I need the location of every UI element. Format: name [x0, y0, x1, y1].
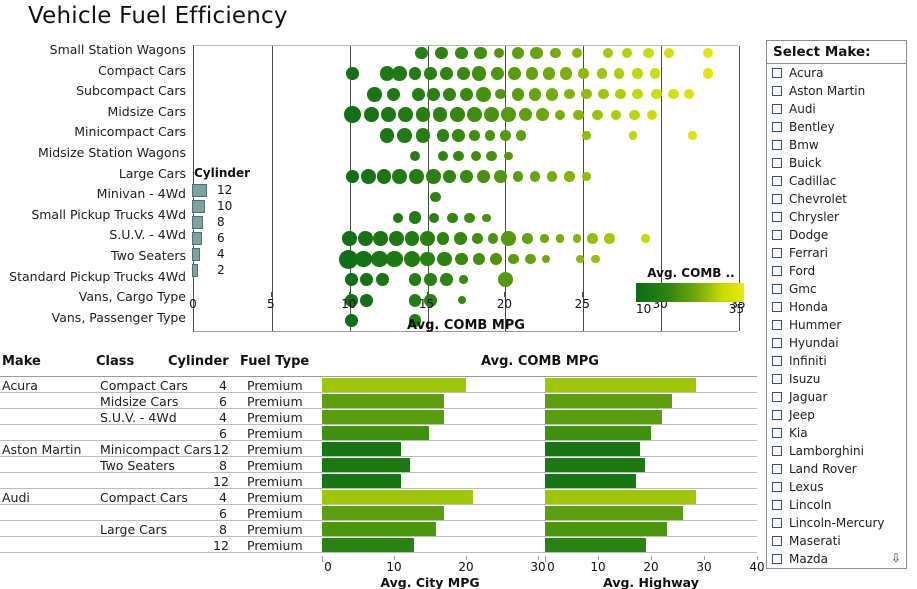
city-mpg-tick — [322, 556, 323, 560]
highway-mpg-bar[interactable] — [545, 426, 651, 440]
cylinder-swatch-wrap — [192, 264, 214, 277]
make-item-jaguar[interactable]: Jaguar — [767, 388, 906, 406]
bubble-point[interactable] — [508, 67, 521, 80]
bubble-point[interactable] — [522, 233, 533, 244]
highway-mpg-bar-cell — [545, 538, 757, 552]
bubble-point[interactable] — [564, 89, 575, 100]
th-fuel: Fuel Type — [240, 354, 309, 369]
city-mpg-bar[interactable] — [322, 474, 401, 488]
bubble-point[interactable] — [443, 88, 456, 101]
bubble-point[interactable] — [429, 213, 440, 224]
cell-cyl: 12 — [213, 442, 227, 457]
bubble-point[interactable] — [398, 107, 413, 122]
make-item-cadillac[interactable]: Cadillac — [767, 172, 906, 190]
bubble-point[interactable] — [597, 68, 608, 79]
checkbox-icon[interactable] — [772, 266, 782, 276]
make-item-ferrari[interactable]: Ferrari — [767, 244, 906, 262]
bubble-point[interactable] — [530, 47, 543, 60]
bubble-point[interactable] — [443, 170, 456, 183]
checkbox-icon[interactable] — [772, 464, 782, 474]
make-item-acura[interactable]: Acura — [767, 64, 906, 82]
table-row[interactable]: Midsize Cars6Premium — [0, 393, 757, 409]
bubble-point[interactable] — [464, 213, 475, 224]
make-label: Aston Martin — [789, 84, 865, 98]
bubble-point[interactable] — [482, 214, 491, 223]
checkbox-icon[interactable] — [772, 356, 782, 366]
bubble-point[interactable] — [346, 67, 359, 80]
city-mpg-bar-cell — [322, 394, 538, 408]
bubble-point[interactable] — [393, 213, 404, 224]
bubble-point[interactable] — [504, 152, 513, 161]
checkbox-icon[interactable] — [772, 158, 782, 168]
bubble-point[interactable] — [684, 89, 695, 100]
bubble-point[interactable] — [525, 254, 536, 265]
bubble-point[interactable] — [603, 48, 614, 59]
highway-mpg-axis-title: Avg. Highway — [545, 575, 757, 589]
cell-fuel: Premium — [247, 538, 303, 553]
city-mpg-bar[interactable] — [322, 426, 429, 440]
bubble-point[interactable] — [560, 67, 573, 80]
bubble-point[interactable] — [392, 169, 407, 184]
bubble-point[interactable] — [604, 233, 615, 244]
bubble-point[interactable] — [513, 171, 524, 182]
cylinder-size-swatch — [192, 216, 203, 229]
bubble-point[interactable] — [501, 107, 516, 122]
checkbox-icon[interactable] — [772, 122, 782, 132]
cylinder-legend-label: 4 — [217, 247, 225, 261]
bubble-point[interactable] — [405, 231, 420, 246]
city-mpg-axis-title: Avg. City MPG — [322, 575, 538, 589]
make-item-audi[interactable]: Audi — [767, 100, 906, 118]
bubble-point[interactable] — [387, 88, 400, 101]
make-label: Acura — [789, 66, 824, 80]
bubble-point[interactable] — [477, 170, 490, 183]
make-label: Hummer — [789, 318, 841, 332]
make-item-lincoln-mercury[interactable]: Lincoln-Mercury — [767, 514, 906, 532]
bubble-point[interactable] — [490, 253, 503, 266]
bubble-point[interactable] — [472, 233, 483, 244]
bubble-point[interactable] — [437, 232, 450, 245]
bubble-point[interactable] — [484, 107, 499, 122]
bubble-point[interactable] — [647, 110, 658, 121]
bubble-point[interactable] — [440, 67, 453, 80]
color-gradient-bar — [636, 283, 744, 302]
checkbox-icon[interactable] — [772, 482, 782, 492]
highway-mpg-bar-cell — [545, 442, 757, 456]
checkbox-icon[interactable] — [772, 86, 782, 96]
bubble-point[interactable] — [438, 151, 449, 162]
make-item-maserati[interactable]: Maserati — [767, 532, 906, 550]
bubble-point[interactable] — [581, 89, 592, 100]
highway-mpg-bar-cell — [545, 474, 757, 488]
bubble-point[interactable] — [611, 110, 622, 121]
category-label-compact-cars: Compact Cars — [98, 64, 186, 78]
cell-cyl: 6 — [213, 394, 227, 409]
make-item-lamborghini[interactable]: Lamborghini — [767, 442, 906, 460]
make-item-buick[interactable]: Buick — [767, 154, 906, 172]
table-row[interactable]: Aston MartinMinicompact Cars12Premium — [0, 441, 757, 457]
cell-class: Compact Cars — [100, 378, 188, 393]
bar-axes: 0102030Avg. City MPG010203040Avg. Highwa… — [0, 556, 757, 589]
bubble-point[interactable] — [516, 130, 527, 141]
table-row[interactable]: 6Premium — [0, 425, 757, 441]
table-row[interactable]: AudiCompact Cars4Premium — [0, 489, 757, 505]
bubble-point[interactable] — [622, 48, 633, 59]
bubble-point[interactable] — [346, 170, 359, 183]
checkbox-icon[interactable] — [772, 248, 782, 258]
make-item-chrysler[interactable]: Chrysler — [767, 208, 906, 226]
bubble-point[interactable] — [632, 68, 643, 79]
city-mpg-bar[interactable] — [322, 394, 444, 408]
bubble-point[interactable] — [453, 151, 464, 162]
checkbox-icon[interactable] — [772, 104, 782, 114]
bubble-point[interactable] — [345, 273, 358, 286]
bubble-point[interactable] — [380, 128, 395, 143]
highway-mpg-bar[interactable] — [545, 506, 683, 520]
city-mpg-bar[interactable] — [322, 410, 444, 424]
city-mpg-bar[interactable] — [322, 378, 466, 392]
cylinder-legend-item-8[interactable]: 8 — [192, 214, 262, 230]
bubble-point[interactable] — [447, 213, 458, 224]
highway-mpg-tick-label-40: 40 — [749, 560, 764, 574]
bubble-point[interactable] — [412, 88, 425, 101]
checkbox-icon[interactable] — [772, 392, 782, 402]
table-row[interactable]: Large Cars8Premium — [0, 521, 757, 537]
checkbox-icon[interactable] — [772, 428, 782, 438]
cylinder-legend-item-2[interactable]: 2 — [192, 262, 262, 278]
bubble-point[interactable] — [498, 272, 513, 287]
bubble-point[interactable] — [367, 87, 382, 102]
bubble-point[interactable] — [376, 273, 389, 286]
checkbox-icon[interactable] — [772, 374, 782, 384]
city-mpg-tick-label-20: 20 — [458, 560, 473, 574]
make-item-aston-martin[interactable]: Aston Martin — [767, 82, 906, 100]
bubble-point[interactable] — [582, 131, 591, 140]
checkbox-icon[interactable] — [772, 338, 782, 348]
checkbox-icon[interactable] — [772, 212, 782, 222]
cylinder-legend-item-10[interactable]: 10 — [192, 198, 262, 214]
bubble-point[interactable] — [555, 110, 566, 121]
bubble-point[interactable] — [437, 129, 450, 142]
bubble-point[interactable] — [547, 171, 558, 182]
make-item-bentley[interactable]: Bentley — [767, 118, 906, 136]
bubble-point[interactable] — [494, 170, 507, 183]
bubble-point[interactable] — [361, 169, 376, 184]
cylinder-size-swatch — [192, 264, 198, 277]
cylinder-legend-label: 12 — [217, 183, 232, 197]
bubble-point[interactable] — [355, 251, 372, 268]
highway-mpg-bar[interactable] — [545, 394, 672, 408]
highway-mpg-bar[interactable] — [545, 410, 662, 424]
bubble-point[interactable] — [358, 231, 373, 246]
select-make-panel[interactable]: Select Make: AcuraAston MartinAudiBentle… — [766, 40, 907, 569]
make-label: Gmc — [789, 282, 817, 296]
bubble-point[interactable] — [587, 233, 598, 244]
make-item-jeep[interactable]: Jeep — [767, 406, 906, 424]
bubble-point[interactable] — [641, 234, 650, 243]
make-item-lincoln[interactable]: Lincoln — [767, 496, 906, 514]
checkbox-icon[interactable] — [772, 284, 782, 294]
highway-mpg-bar-cell — [545, 490, 757, 504]
bubble-point[interactable] — [426, 169, 441, 184]
cylinder-size-swatch — [192, 200, 205, 213]
category-label-two-seaters: Two Seaters — [111, 249, 186, 263]
bubble-point[interactable] — [530, 171, 541, 182]
bubble-point[interactable] — [615, 89, 626, 100]
cylinder-legend-item-12[interactable]: 12 — [192, 182, 262, 198]
city-mpg-bar[interactable] — [322, 538, 414, 552]
checkbox-icon[interactable] — [772, 500, 782, 510]
bubble-point[interactable] — [472, 66, 487, 81]
make-item-infiniti[interactable]: Infiniti — [767, 352, 906, 370]
bubble-point[interactable] — [371, 251, 388, 268]
bubble-point[interactable] — [592, 110, 603, 121]
bubble-point[interactable] — [450, 107, 465, 122]
make-item-kia[interactable]: Kia — [767, 424, 906, 442]
bubble-point[interactable] — [508, 254, 519, 265]
checkbox-icon[interactable] — [772, 554, 782, 564]
highway-mpg-bar[interactable] — [545, 378, 696, 392]
highway-mpg-bar[interactable] — [545, 474, 636, 488]
city-mpg-bar-cell — [322, 426, 538, 440]
highway-mpg-bar[interactable] — [545, 522, 667, 536]
bubble-point[interactable] — [578, 68, 589, 79]
bubble-point[interactable] — [386, 251, 403, 268]
cylinder-legend-label: 10 — [217, 199, 232, 213]
bubble-point[interactable] — [424, 273, 437, 286]
table-row[interactable]: Two Seaters8Premium — [0, 457, 757, 473]
highway-mpg-tick-label-20: 20 — [643, 560, 658, 574]
checkbox-icon[interactable] — [772, 176, 782, 186]
checkbox-icon[interactable] — [772, 446, 782, 456]
bubble-point[interactable] — [460, 170, 473, 183]
cylinder-legend-item-4[interactable]: 4 — [192, 246, 262, 262]
bubble-point[interactable] — [415, 47, 428, 60]
make-checkbox-list[interactable]: AcuraAston MartinAudiBentleyBmwBuickCadi… — [767, 64, 906, 568]
checkbox-icon[interactable] — [772, 518, 782, 528]
bubble-point[interactable] — [573, 110, 584, 121]
bubble-point[interactable] — [614, 68, 625, 79]
category-label-midsize-station-wagons: Midsize Station Wagons — [38, 146, 186, 160]
highway-mpg-bar-cell — [545, 394, 757, 408]
x-tick-label-25: 25 — [575, 297, 590, 311]
bubble-point[interactable] — [488, 233, 499, 244]
make-label: Hyundai — [789, 336, 839, 350]
table-row[interactable]: 12Premium — [0, 537, 757, 553]
bubble-point[interactable] — [664, 48, 675, 59]
bubble-point[interactable] — [632, 89, 643, 100]
make-item-ford[interactable]: Ford — [767, 262, 906, 280]
bubble-point[interactable] — [476, 87, 491, 102]
bubble-point[interactable] — [344, 106, 361, 123]
checkbox-icon[interactable] — [772, 230, 782, 240]
bubble-point[interactable] — [416, 128, 431, 143]
bubble-point[interactable] — [430, 192, 441, 203]
city-mpg-bar[interactable] — [322, 458, 410, 472]
comb-mpg-axis-title: Avg. COMB MPG — [193, 318, 739, 333]
checkbox-icon[interactable] — [772, 410, 782, 420]
table-row[interactable]: AcuraCompact Cars4Premium — [0, 377, 757, 393]
bubble-point[interactable] — [703, 68, 714, 79]
bubble-point[interactable] — [409, 169, 424, 184]
bubble-point[interactable] — [629, 110, 640, 121]
city-mpg-tick-label-0: 0 — [324, 560, 332, 574]
bubble-point[interactable] — [467, 107, 482, 122]
bubble-point[interactable] — [373, 231, 388, 246]
bubble-point[interactable] — [424, 67, 437, 80]
bubble-point[interactable] — [529, 88, 542, 101]
bubble-point[interactable] — [650, 68, 661, 79]
bubble-point[interactable] — [420, 252, 435, 267]
cylinder-legend-item-6[interactable]: 6 — [192, 230, 262, 246]
make-item-mazda[interactable]: Mazda — [767, 550, 906, 568]
bubble-point[interactable] — [377, 169, 392, 184]
highway-mpg-bar-cell — [545, 522, 757, 536]
bubble-point[interactable] — [500, 130, 511, 141]
bubble-point[interactable] — [486, 151, 497, 162]
bubble-point[interactable] — [433, 107, 448, 122]
table-row[interactable]: S.U.V. - 4Wd4Premium — [0, 409, 757, 425]
checkbox-icon[interactable] — [772, 68, 782, 78]
bubble-point[interactable] — [591, 255, 600, 264]
make-item-dodge[interactable]: Dodge — [767, 226, 906, 244]
bubble-point[interactable] — [519, 108, 532, 121]
make-item-isuzu[interactable]: Isuzu — [767, 370, 906, 388]
make-item-land-rover[interactable]: Land Rover — [767, 460, 906, 478]
category-label-midsize-cars: Midsize Cars — [108, 105, 186, 119]
make-label: Ferrari — [789, 246, 828, 260]
bubble-point[interactable] — [512, 88, 525, 101]
checkbox-icon[interactable] — [772, 302, 782, 312]
make-label: Ford — [789, 264, 815, 278]
make-label: Audi — [789, 102, 816, 116]
make-label: Jeep — [789, 408, 815, 422]
bubble-point[interactable] — [598, 89, 609, 100]
bubble-point[interactable] — [392, 66, 407, 81]
cell-cyl: 12 — [213, 538, 227, 553]
bubble-point[interactable] — [629, 131, 638, 140]
cylinder-legend-label: 2 — [217, 263, 225, 277]
bubble-point[interactable] — [459, 275, 468, 284]
highway-mpg-bar[interactable] — [545, 442, 640, 456]
bubble-point[interactable] — [409, 67, 422, 80]
bubble-point[interactable] — [409, 273, 422, 286]
bubble-point[interactable] — [564, 171, 575, 182]
bubble-point[interactable] — [452, 129, 465, 142]
bubble-point[interactable] — [543, 67, 556, 80]
th-comb: Avg. COMB MPG — [330, 354, 750, 369]
bubble-point[interactable] — [643, 48, 654, 59]
city-mpg-bar[interactable] — [322, 442, 401, 456]
highway-mpg-bar[interactable] — [545, 458, 645, 472]
bubble-point[interactable] — [455, 47, 468, 60]
cylinder-legend-title: Cylinder — [192, 166, 262, 180]
bubble-point[interactable] — [688, 131, 697, 140]
page-title: Vehicle Fuel Efficiency — [28, 3, 288, 29]
bubble-point[interactable] — [364, 107, 379, 122]
make-item-hyundai[interactable]: Hyundai — [767, 334, 906, 352]
bubble-point[interactable] — [668, 89, 679, 100]
bubble-point[interactable] — [573, 234, 582, 243]
bubble-point[interactable] — [485, 130, 496, 141]
bubble-point[interactable] — [582, 172, 591, 181]
bubble-point[interactable] — [437, 252, 452, 267]
bubble-point[interactable] — [512, 47, 525, 60]
th-cylinder: Cylinder — [168, 354, 229, 369]
make-item-lexus[interactable]: Lexus — [767, 478, 906, 496]
bubble-point[interactable] — [703, 48, 714, 59]
city-mpg-bar[interactable] — [322, 522, 436, 536]
highway-mpg-bar[interactable] — [545, 490, 696, 504]
bubble-point[interactable] — [440, 273, 453, 286]
table-row[interactable]: 12Premium — [0, 473, 757, 489]
bubble-point[interactable] — [494, 48, 505, 59]
bubble-point[interactable] — [501, 231, 516, 246]
cell-cyl: 6 — [213, 506, 227, 521]
bubble-point[interactable] — [473, 253, 486, 266]
cylinder-legend-rows: 12108642 — [192, 182, 262, 278]
bubble-point[interactable] — [471, 151, 482, 162]
checkbox-icon[interactable] — [772, 194, 782, 204]
bubble-point[interactable] — [404, 251, 421, 268]
bubble-point[interactable] — [474, 47, 487, 60]
checkbox-icon[interactable] — [772, 536, 782, 546]
bubble-point[interactable] — [469, 130, 480, 141]
bubble-point[interactable] — [550, 48, 561, 59]
table-row[interactable]: 6Premium — [0, 505, 757, 521]
bubble-point[interactable] — [455, 253, 468, 266]
make-item-chevrolet[interactable]: Chevrolet — [767, 190, 906, 208]
checkbox-icon[interactable] — [772, 140, 782, 150]
bubble-point[interactable] — [342, 231, 357, 246]
cell-fuel: Premium — [247, 490, 303, 505]
make-label: Kia — [789, 426, 808, 440]
make-item-honda[interactable]: Honda — [767, 298, 906, 316]
bubble-point[interactable] — [546, 88, 559, 101]
make-item-bmw[interactable]: Bmw — [767, 136, 906, 154]
highway-mpg-bar[interactable] — [545, 538, 646, 552]
bubble-point[interactable] — [457, 67, 470, 80]
bubble-point[interactable] — [360, 273, 373, 286]
bubble-point[interactable] — [542, 255, 551, 264]
bubble-point[interactable] — [409, 211, 422, 224]
highway-mpg-bar-cell — [545, 426, 757, 440]
bubble-point[interactable] — [540, 234, 549, 243]
bubble-point[interactable] — [460, 88, 473, 101]
bubble-point[interactable] — [420, 231, 435, 246]
bubble-point[interactable] — [381, 107, 396, 122]
bubble-point[interactable] — [410, 151, 421, 162]
bubble-point[interactable] — [427, 88, 440, 101]
bubble-point[interactable] — [526, 67, 539, 80]
bubble-point[interactable] — [397, 128, 412, 143]
bubble-point[interactable] — [435, 47, 448, 60]
bubble-point[interactable] — [572, 48, 583, 59]
city-mpg-tick-label-30: 30 — [530, 560, 545, 574]
scroll-down-icon[interactable]: ⇩ — [891, 551, 901, 565]
bubble-point[interactable] — [454, 232, 467, 245]
bubble-point[interactable] — [389, 231, 404, 246]
checkbox-icon[interactable] — [772, 320, 782, 330]
bubble-point[interactable] — [491, 67, 504, 80]
make-item-hummer[interactable]: Hummer — [767, 316, 906, 334]
city-mpg-bar[interactable] — [322, 506, 444, 520]
bubble-point[interactable] — [556, 234, 565, 243]
bubble-point[interactable] — [536, 108, 549, 121]
make-item-gmc[interactable]: Gmc — [767, 280, 906, 298]
city-mpg-bar[interactable] — [322, 490, 473, 504]
cell-fuel: Premium — [247, 506, 303, 521]
